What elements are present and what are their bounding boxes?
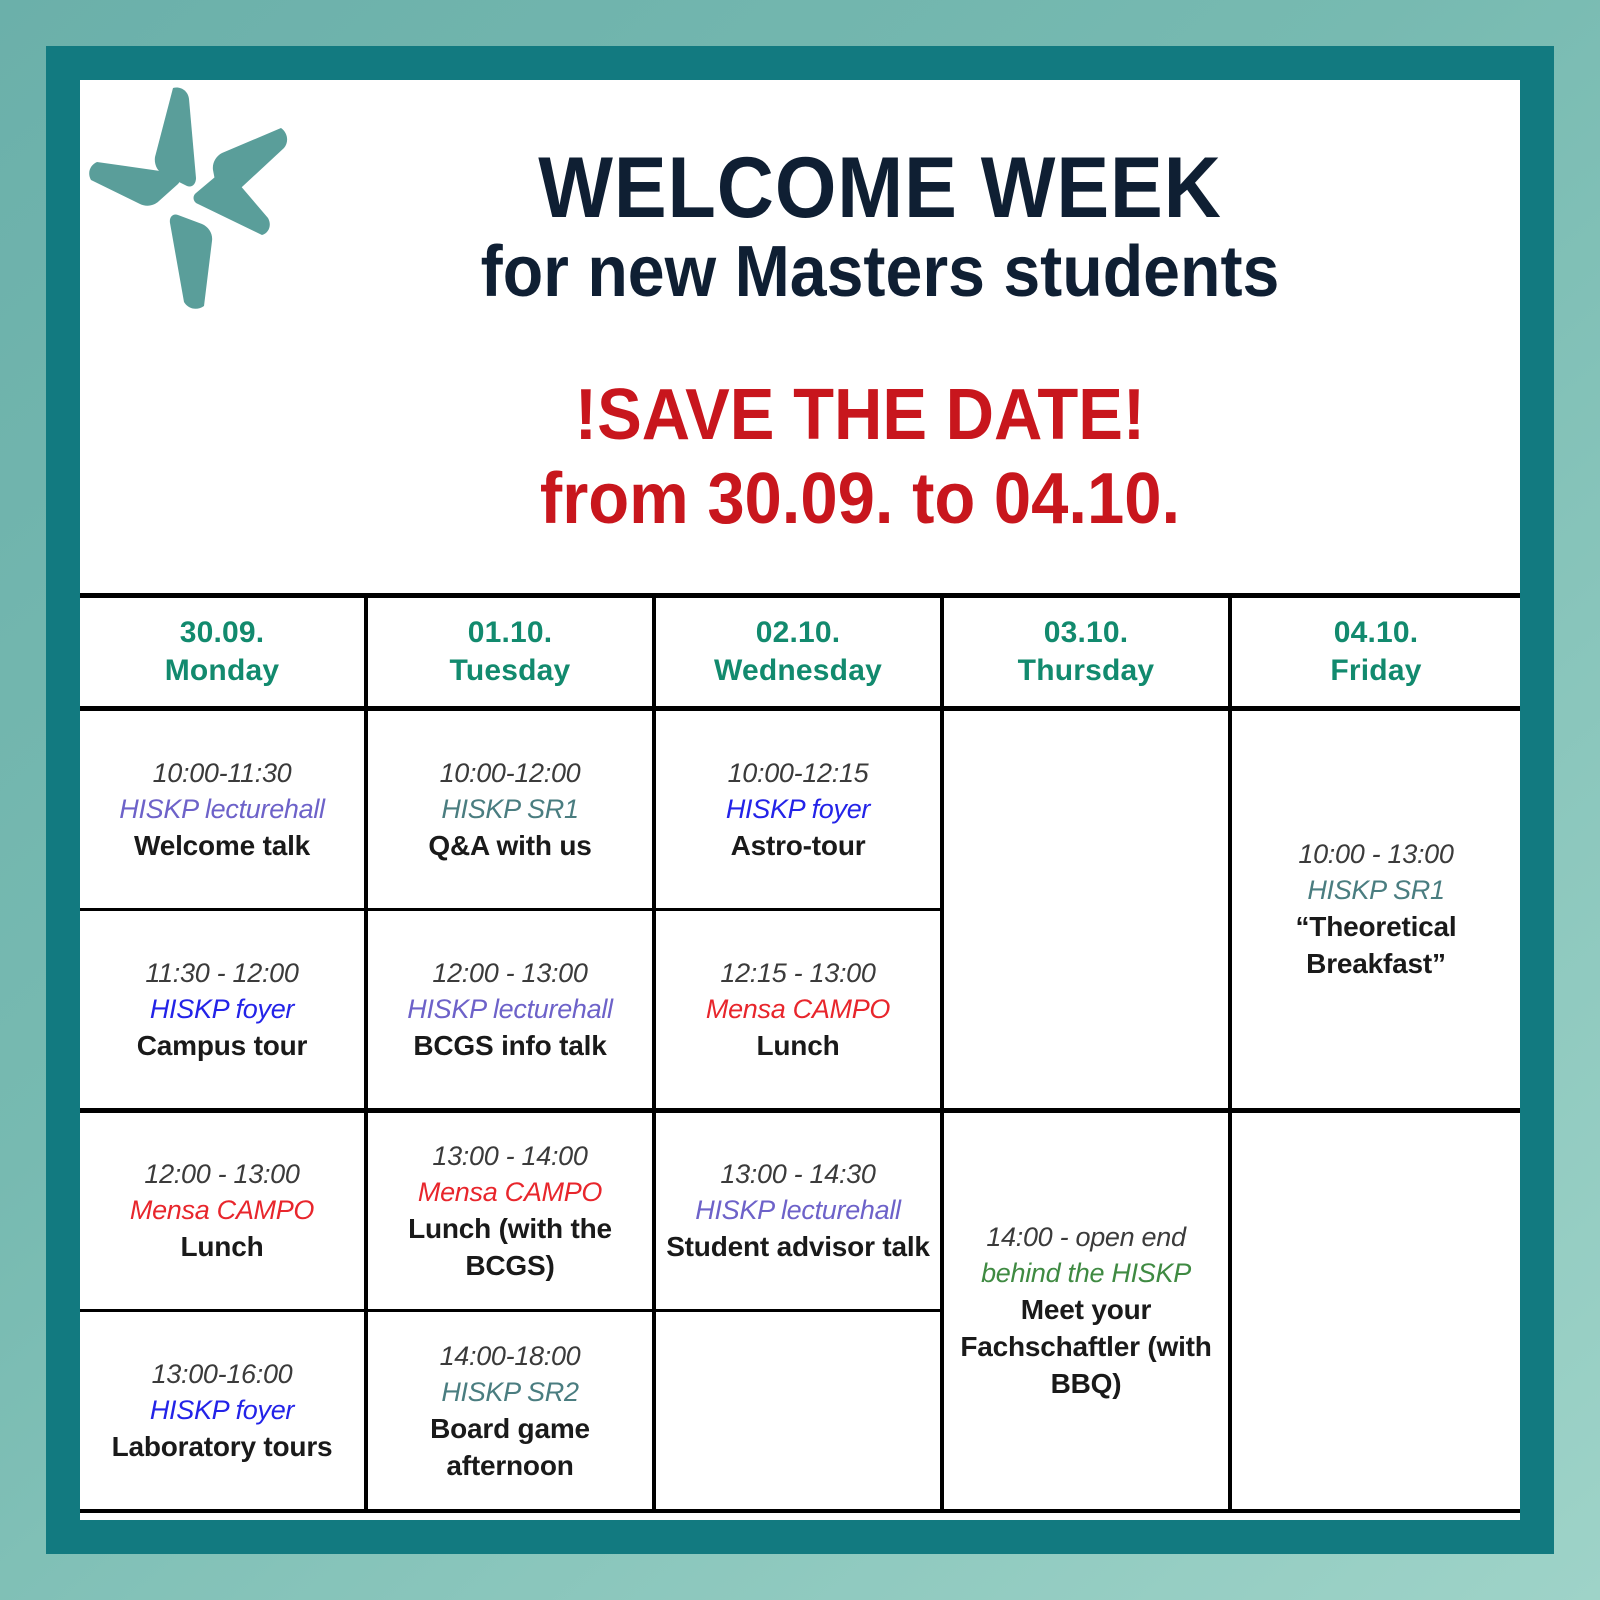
poster-card: WELCOME WEEK for new Masters students !S… [80, 80, 1520, 1520]
event-location: HISKP SR1 [1307, 872, 1444, 908]
schedule-cell: 14:00 - open endbehind the HISKPMeet you… [944, 1113, 1228, 1510]
schedule-column-monday: 30.09.Monday10:00-11:30HISKP lecturehall… [80, 598, 368, 1509]
day-header-friday: 04.10.Friday [1232, 598, 1520, 711]
day-header-wednesday: 02.10.Wednesday [656, 598, 940, 711]
event-title: Welcome talk [134, 827, 310, 864]
event-time: 13:00 - 14:30 [720, 1156, 875, 1192]
schedule-column-wednesday: 02.10.Wednesday10:00-12:15HISKP foyerAst… [656, 598, 944, 1509]
event-title: Astro-tour [731, 827, 866, 864]
event-time: 14:00-18:00 [440, 1338, 581, 1374]
event-title: Student advisor talk [666, 1228, 930, 1265]
event-title: Q&A with us [428, 827, 591, 864]
schedule-cell: 13:00-16:00HISKP foyerLaboratory tours [80, 1312, 364, 1509]
page-title: WELCOME WEEK [310, 142, 1451, 234]
event-time: 14:00 - open end [986, 1219, 1185, 1255]
schedule-cell: 12:15 - 13:00Mensa CAMPOLunch [656, 911, 940, 1113]
event-title: Campus tour [137, 1027, 307, 1064]
schedule-column-thursday: 03.10.Thursday14:00 - open endbehind the… [944, 598, 1232, 1509]
event-time: 13:00 - 14:00 [432, 1138, 587, 1174]
schedule-cell: 12:00 - 13:00Mensa CAMPOLunch [80, 1113, 364, 1313]
day-header-tuesday: 01.10.Tuesday [368, 598, 652, 711]
event-time: 10:00-11:30 [153, 755, 292, 791]
event-time: 12:00 - 13:00 [144, 1156, 299, 1192]
page-subtitle: for new Masters students [310, 232, 1451, 312]
day-header-monday: 30.09.Monday [80, 598, 364, 711]
event-location: HISKP foyer [150, 991, 294, 1027]
day-weekday: Tuesday [450, 652, 571, 690]
event-title: Laboratory tours [112, 1428, 333, 1465]
day-weekday: Thursday [1018, 652, 1155, 690]
event-location: HISKP foyer [150, 1392, 294, 1428]
save-the-date-range: from 30.09. to 04.10. [302, 458, 1418, 540]
event-title: Lunch (with the BCGS) [376, 1210, 644, 1284]
event-time: 12:00 - 13:00 [432, 955, 587, 991]
schedule-cell: 10:00 - 13:00HISKP SR1“Theoretical Break… [1232, 711, 1520, 1113]
schedule-cell: 11:30 - 12:00HISKP foyerCampus tour [80, 911, 364, 1113]
event-title: BCGS info talk [413, 1027, 606, 1064]
event-time: 10:00 - 13:00 [1298, 836, 1453, 872]
schedule-grid: 30.09.Monday10:00-11:30HISKP lecturehall… [80, 598, 1520, 1509]
day-date: 04.10. [1334, 614, 1419, 652]
event-title: “Theoretical Breakfast” [1240, 908, 1512, 982]
event-title: Lunch [181, 1228, 264, 1265]
save-the-date-headline: !SAVE THE DATE! [302, 372, 1418, 458]
day-weekday: Friday [1330, 652, 1421, 690]
event-time: 12:15 - 13:00 [720, 955, 875, 991]
poster-header: WELCOME WEEK for new Masters students !S… [80, 80, 1520, 588]
day-date: 02.10. [756, 614, 841, 652]
event-location: HISKP SR1 [441, 791, 578, 827]
event-location: behind the HISKP [981, 1255, 1191, 1291]
event-title: Meet your Fachschaftler (with BBQ) [952, 1291, 1220, 1402]
schedule-cell [656, 1312, 940, 1509]
event-location: HISKP SR2 [441, 1374, 578, 1410]
schedule-column-tuesday: 01.10.Tuesday10:00-12:00HISKP SR1Q&A wit… [368, 598, 656, 1509]
event-location: HISKP foyer [726, 791, 870, 827]
event-time: 10:00-12:15 [728, 755, 869, 791]
schedule-cell: 10:00-11:30HISKP lecturehallWelcome talk [80, 711, 364, 911]
event-time: 10:00-12:00 [440, 755, 581, 791]
day-date: 30.09. [180, 614, 265, 652]
day-date: 01.10. [468, 614, 553, 652]
event-location: HISKP lecturehall [407, 991, 613, 1027]
schedule-column-friday: 04.10.Friday10:00 - 13:00HISKP SR1“Theor… [1232, 598, 1520, 1509]
weekly-schedule-table: 30.09.Monday10:00-11:30HISKP lecturehall… [80, 593, 1520, 1513]
schedule-cell: 12:00 - 13:00HISKP lecturehallBCGS info … [368, 911, 652, 1113]
schedule-cell [944, 711, 1228, 1113]
schedule-cell: 13:00 - 14:00Mensa CAMPOLunch (with the … [368, 1113, 652, 1313]
save-the-date-block: !SAVE THE DATE! from 30.09. to 04.10. [260, 372, 1460, 540]
poster: WELCOME WEEK for new Masters students !S… [0, 0, 1600, 1600]
schedule-cell: 14:00-18:00HISKP SR2Board game afternoon [368, 1312, 652, 1509]
schedule-cell: 10:00-12:00HISKP SR1Q&A with us [368, 711, 652, 911]
day-date: 03.10. [1044, 614, 1129, 652]
event-location: Mensa CAMPO [130, 1192, 314, 1228]
schedule-cell [1232, 1113, 1520, 1510]
event-title: Lunch [757, 1027, 840, 1064]
day-header-thursday: 03.10.Thursday [944, 598, 1228, 711]
event-location: HISKP lecturehall [119, 791, 325, 827]
event-location: HISKP lecturehall [695, 1192, 901, 1228]
day-weekday: Monday [165, 652, 280, 690]
schedule-cell: 13:00 - 14:30HISKP lecturehallStudent ad… [656, 1113, 940, 1313]
title-block: WELCOME WEEK for new Masters students [260, 142, 1500, 312]
event-time: 13:00-16:00 [152, 1356, 293, 1392]
schedule-cell: 10:00-12:15HISKP foyerAstro-tour [656, 711, 940, 911]
day-weekday: Wednesday [714, 652, 882, 690]
event-time: 11:30 - 12:00 [145, 955, 298, 991]
event-title: Board game afternoon [376, 1410, 644, 1484]
event-location: Mensa CAMPO [706, 991, 890, 1027]
event-location: Mensa CAMPO [418, 1174, 602, 1210]
